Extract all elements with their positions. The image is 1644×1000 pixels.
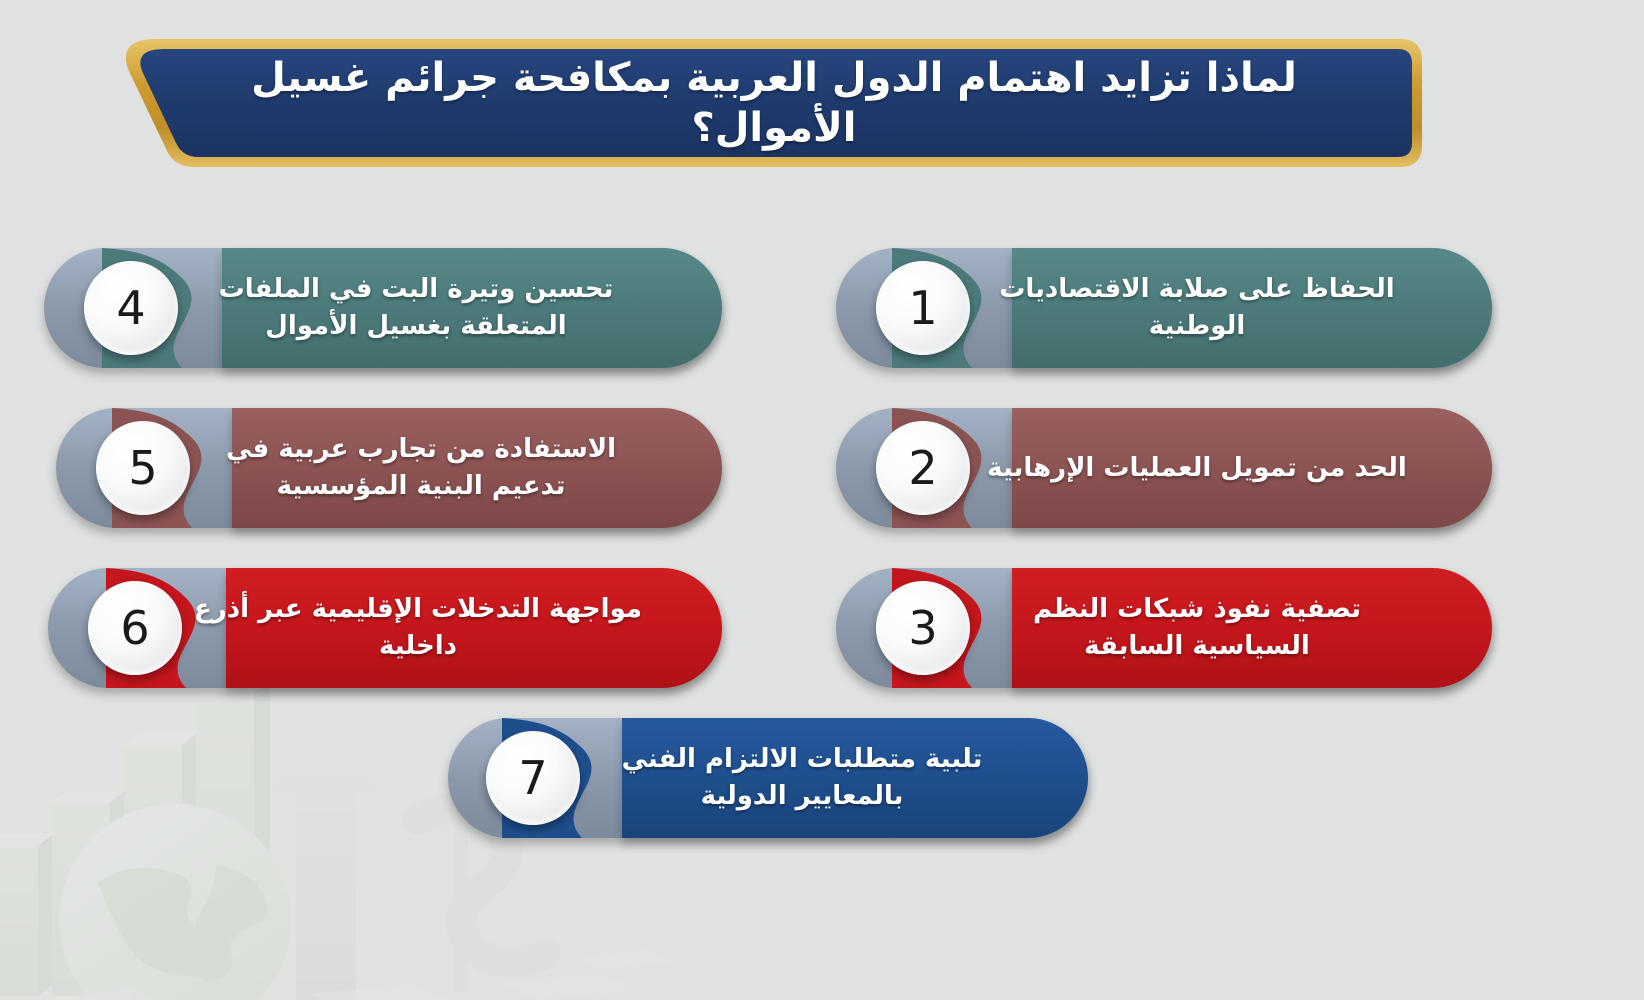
item-number-6: 6 bbox=[88, 581, 182, 675]
item-row-6: مواجهة التدخلات الإقليمية عبر أذرع داخلي… bbox=[48, 568, 722, 688]
item-number-3: 3 bbox=[876, 581, 970, 675]
item-label-2: الحد من تمويل العمليات الإرهابية bbox=[962, 408, 1432, 528]
item-row-5: الاستفادة من تجارب عربية في تدعيم البنية… bbox=[56, 408, 722, 528]
item-label-5: الاستفادة من تجارب عربية في تدعيم البنية… bbox=[180, 408, 662, 528]
item-row-7: تلبية متطلبات الالتزام الفني بالمعايير ا… bbox=[448, 718, 1088, 838]
item-number-4: 4 bbox=[84, 261, 178, 355]
item-number-7: 7 bbox=[486, 731, 580, 825]
item-number-1: 1 bbox=[876, 261, 970, 355]
title-banner: لماذا تزايد اهتمام الدول العربية بمكافحة… bbox=[124, 33, 1424, 173]
item-label-3: تصفية نفوذ شبكات النظم السياسية السابقة bbox=[962, 568, 1432, 688]
infographic-canvas: لماذا تزايد اهتمام الدول العربية بمكافحة… bbox=[0, 0, 1644, 1000]
item-row-3: تصفية نفوذ شبكات النظم السياسية السابقة … bbox=[836, 568, 1492, 688]
item-row-1: الحفاظ على صلابة الاقتصاديات الوطنية 1 bbox=[836, 248, 1492, 368]
item-number-5: 5 bbox=[96, 421, 190, 515]
item-label-1: الحفاظ على صلابة الاقتصاديات الوطنية bbox=[962, 248, 1432, 368]
item-label-6: مواجهة التدخلات الإقليمية عبر أذرع داخلي… bbox=[174, 568, 662, 688]
item-label-7: تلبية متطلبات الالتزام الفني بالمعايير ا… bbox=[574, 718, 1030, 838]
item-row-2: الحد من تمويل العمليات الإرهابية 2 bbox=[836, 408, 1492, 528]
item-label-4: تحسين وتيرة البت في الملفات المتعلقة بغس… bbox=[170, 248, 662, 368]
item-row-4: تحسين وتيرة البت في الملفات المتعلقة بغس… bbox=[44, 248, 722, 368]
page-title: لماذا تزايد اهتمام الدول العربية بمكافحة… bbox=[124, 33, 1424, 173]
item-number-2: 2 bbox=[876, 421, 970, 515]
